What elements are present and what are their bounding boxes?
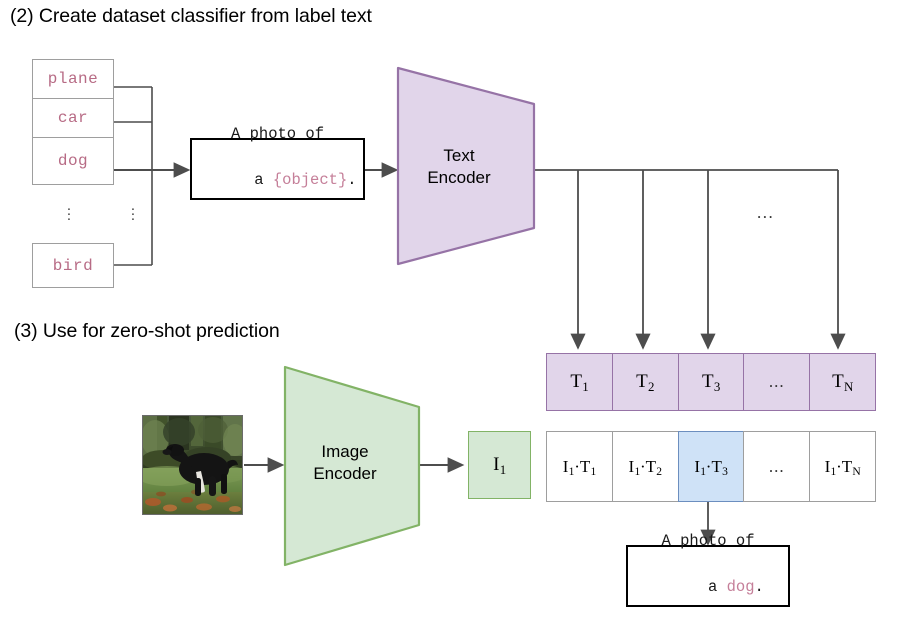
cell-label: I1·T2 [629, 457, 662, 477]
text-embedding-cell-t3[interactable]: T3 [678, 353, 745, 411]
cell-label: I1·T3 [694, 457, 727, 477]
result-line-2: a dog. [652, 553, 764, 623]
cell-label: I1·TN [825, 457, 861, 477]
label-box-bird[interactable]: bird [32, 243, 114, 288]
label-list-ellipsis-left: . . . [62, 203, 76, 218]
cell-label: T2 [636, 371, 654, 393]
label-box-dog[interactable]: dog [32, 137, 114, 185]
page-title-step-3: (3) Use for zero-shot prediction [14, 320, 280, 343]
dog-photo-illustration [143, 416, 242, 514]
similarity-cell-1[interactable]: I1·T1 [546, 431, 613, 502]
cell-label: ... [769, 372, 785, 392]
text-encoder-shape[interactable] [396, 66, 536, 266]
prompt-object-variable: {object} [273, 171, 347, 189]
label-box-plane[interactable]: plane [32, 59, 114, 99]
text-embedding-cell-t2[interactable]: T2 [612, 353, 679, 411]
prompt-line-2-prefix: a [254, 171, 273, 189]
similarity-scores-row: I1·T1 I1·T2 I1·T3 ... I1·TN [546, 431, 876, 502]
image-encoder-shape[interactable] [283, 365, 421, 567]
result-line-1: A photo of [661, 530, 754, 553]
result-predicted-class: dog [727, 578, 755, 596]
page-title-step-2: (2) Create dataset classifier from label… [10, 5, 372, 28]
cell-label: ... [769, 457, 785, 477]
text-bus-ellipsis: ... [757, 203, 774, 223]
ellipsis-dot: . [126, 213, 140, 218]
prompt-line-2-suffix: . [347, 171, 356, 189]
prompt-template-box[interactable]: A photo of a {object}. [190, 138, 365, 200]
cell-label: TN [832, 371, 853, 393]
text-embedding-cell-t1[interactable]: T1 [546, 353, 613, 411]
similarity-cell-ellipsis: ... [743, 431, 810, 502]
result-line-2-suffix: . [755, 578, 764, 596]
text-embedding-cell-tn[interactable]: TN [809, 353, 876, 411]
label-list-ellipsis-right: . . . [126, 203, 140, 218]
prediction-result-box[interactable]: A photo of a dog. [626, 545, 790, 607]
prompt-line-2: a {object}. [198, 146, 356, 216]
input-photo-thumbnail[interactable] [142, 415, 243, 515]
clip-zero-shot-figure: (2) Create dataset classifier from label… [0, 0, 906, 624]
result-line-2-prefix: a [708, 578, 727, 596]
prompt-line-1: A photo of [231, 123, 324, 146]
image-embedding-cell-i1[interactable]: I1 [468, 431, 531, 499]
text-embedding-cell-ellipsis: ... [743, 353, 810, 411]
cell-label: T1 [570, 371, 588, 393]
text-embeddings-row: T1 T2 T3 ... TN [546, 353, 876, 411]
label-box-car[interactable]: car [32, 98, 114, 138]
cell-label: I1 [493, 454, 506, 476]
ellipsis-dot: . [62, 213, 76, 218]
similarity-cell-n[interactable]: I1·TN [809, 431, 876, 502]
cell-label: T3 [702, 371, 720, 393]
cell-label: I1·T1 [563, 457, 596, 477]
similarity-cell-2[interactable]: I1·T2 [612, 431, 679, 502]
similarity-cell-3-selected[interactable]: I1·T3 [678, 431, 745, 502]
